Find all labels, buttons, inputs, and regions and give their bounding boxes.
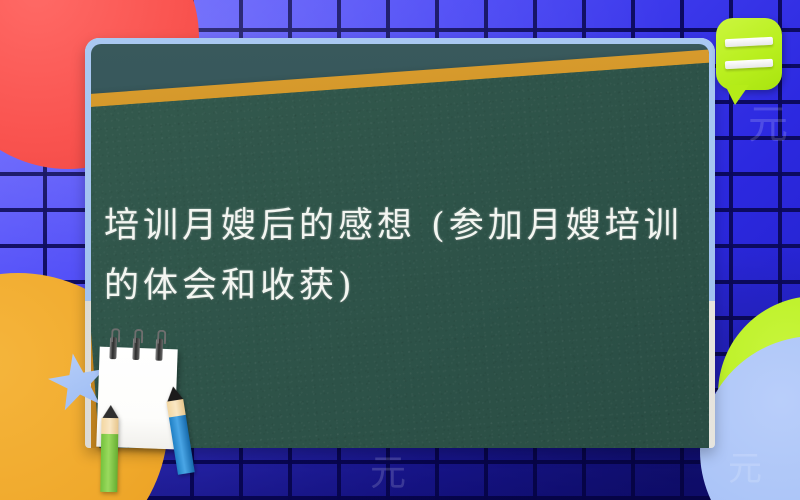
thumbnail-canvas: 培训月嫂后的感想 (参加月嫂培训的体会和收获) 元 元 元 [0,0,800,500]
speech-bubble-line [725,37,773,48]
speech-bubble-icon [716,18,782,90]
pencil-body [100,434,118,492]
pencil-tip [102,405,118,418]
notepad-ring [155,339,163,361]
speech-bubble-line [725,59,773,70]
pencil-wood [101,418,118,434]
notepad-ring [109,337,117,359]
green-pencil [100,405,119,492]
notepad-ring [132,338,140,360]
page-title: 培训月嫂后的感想 (参加月嫂培训的体会和收获) [104,196,704,316]
notepad-spiral [99,337,178,358]
